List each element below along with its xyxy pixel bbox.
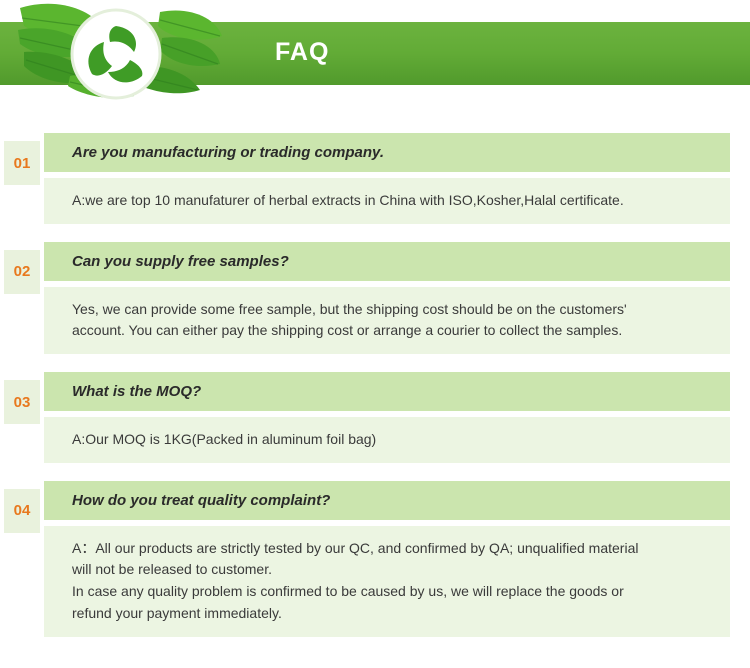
faq-answer-line: refund your payment immediately. xyxy=(72,603,718,625)
logo xyxy=(10,0,225,103)
faq-answer: A：All our products are strictly tested b… xyxy=(44,526,730,637)
page-header: FAQ xyxy=(0,0,750,103)
faq-answer-line: account. You can either pay the shipping… xyxy=(72,320,718,342)
faq-answer: A:Our MOQ is 1KG(Packed in aluminum foil… xyxy=(44,417,730,463)
faq-answer-line: A：All our products are strictly tested b… xyxy=(72,538,718,560)
faq-answer-line: A:we are top 10 manufaturer of herbal ex… xyxy=(72,190,718,212)
faq-question: Are you manufacturing or trading company… xyxy=(44,133,730,172)
faq-list: 01 Are you manufacturing or trading comp… xyxy=(0,103,750,637)
faq-number-badge: 04 xyxy=(4,489,40,533)
faq-item: 03 What is the MOQ? A:Our MOQ is 1KG(Pac… xyxy=(0,372,750,463)
faq-answer-line: Yes, we can provide some free sample, bu… xyxy=(72,299,718,321)
faq-question: Can you supply free samples? xyxy=(44,242,730,281)
page-title: FAQ xyxy=(275,38,329,67)
faq-question: How do you treat quality complaint? xyxy=(44,481,730,520)
faq-answer-line: In case any quality problem is confirmed… xyxy=(72,581,718,603)
faq-answer-line: A:Our MOQ is 1KG(Packed in aluminum foil… xyxy=(72,429,718,451)
faq-answer: Yes, we can provide some free sample, bu… xyxy=(44,287,730,354)
faq-number-badge: 03 xyxy=(4,380,40,424)
faq-answer: A:we are top 10 manufaturer of herbal ex… xyxy=(44,178,730,224)
faq-question: What is the MOQ? xyxy=(44,372,730,411)
leaf-logo-icon xyxy=(10,0,225,103)
faq-number-badge: 01 xyxy=(4,141,40,185)
faq-item: 01 Are you manufacturing or trading comp… xyxy=(0,133,750,224)
faq-item: 04 How do you treat quality complaint? A… xyxy=(0,481,750,637)
faq-answer-line: will not be released to customer. xyxy=(72,559,718,581)
faq-item: 02 Can you supply free samples? Yes, we … xyxy=(0,242,750,354)
faq-number-badge: 02 xyxy=(4,250,40,294)
